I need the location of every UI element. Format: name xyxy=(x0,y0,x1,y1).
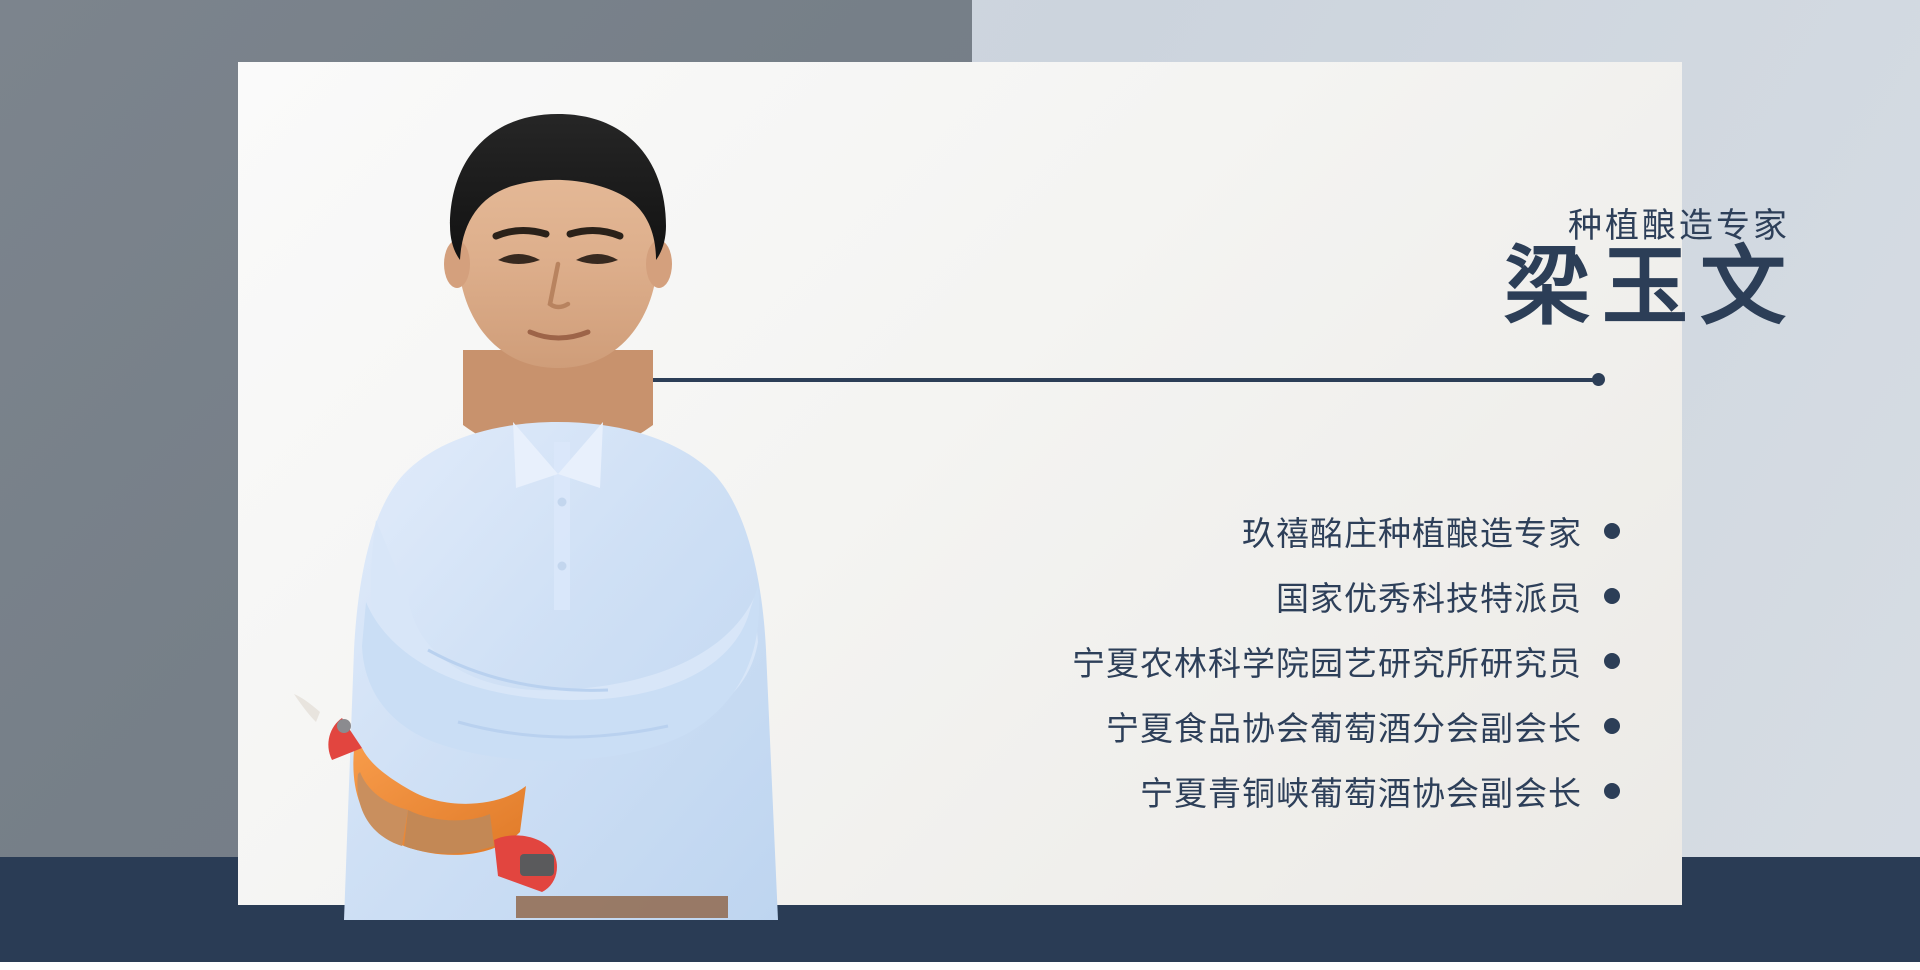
credential-list: 玖禧酩庄种植酿造专家 国家优秀科技特派员 宁夏农林科学院园艺研究所研究员 宁夏食… xyxy=(920,498,1620,823)
background-bottom-strip xyxy=(0,962,1920,970)
person-name: 梁玉文 xyxy=(1504,244,1798,330)
list-item: 宁夏青铜峡葡萄酒协会副会长 xyxy=(920,758,1620,823)
bullet-icon xyxy=(1604,653,1620,669)
bullet-icon xyxy=(1604,588,1620,604)
credential-label: 国家优秀科技特派员 xyxy=(1276,572,1582,620)
credential-label: 宁夏青铜峡葡萄酒协会副会长 xyxy=(1140,767,1582,815)
credential-label: 玖禧酩庄种植酿造专家 xyxy=(1242,507,1582,555)
poster-stage: 种植酿造专家 梁玉文 玖禧酩庄种植酿造专家 国家优秀科技特派员 宁夏农林科学院园… xyxy=(0,0,1920,970)
list-item: 宁夏食品协会葡萄酒分会副会长 xyxy=(920,693,1620,758)
bullet-icon xyxy=(1604,783,1620,799)
list-item: 宁夏农林科学院园艺研究所研究员 xyxy=(920,628,1620,693)
divider-end-dot xyxy=(1592,373,1605,386)
credential-label: 宁夏农林科学院园艺研究所研究员 xyxy=(1072,637,1582,685)
list-item: 玖禧酩庄种植酿造专家 xyxy=(920,498,1620,563)
list-item: 国家优秀科技特派员 xyxy=(920,563,1620,628)
profile-card: 种植酿造专家 梁玉文 玖禧酩庄种植酿造专家 国家优秀科技特派员 宁夏农林科学院园… xyxy=(238,62,1682,905)
divider-line xyxy=(645,378,1600,382)
credential-label: 宁夏食品协会葡萄酒分会副会长 xyxy=(1106,702,1582,750)
bullet-icon xyxy=(1604,523,1620,539)
bullet-icon xyxy=(1604,718,1620,734)
